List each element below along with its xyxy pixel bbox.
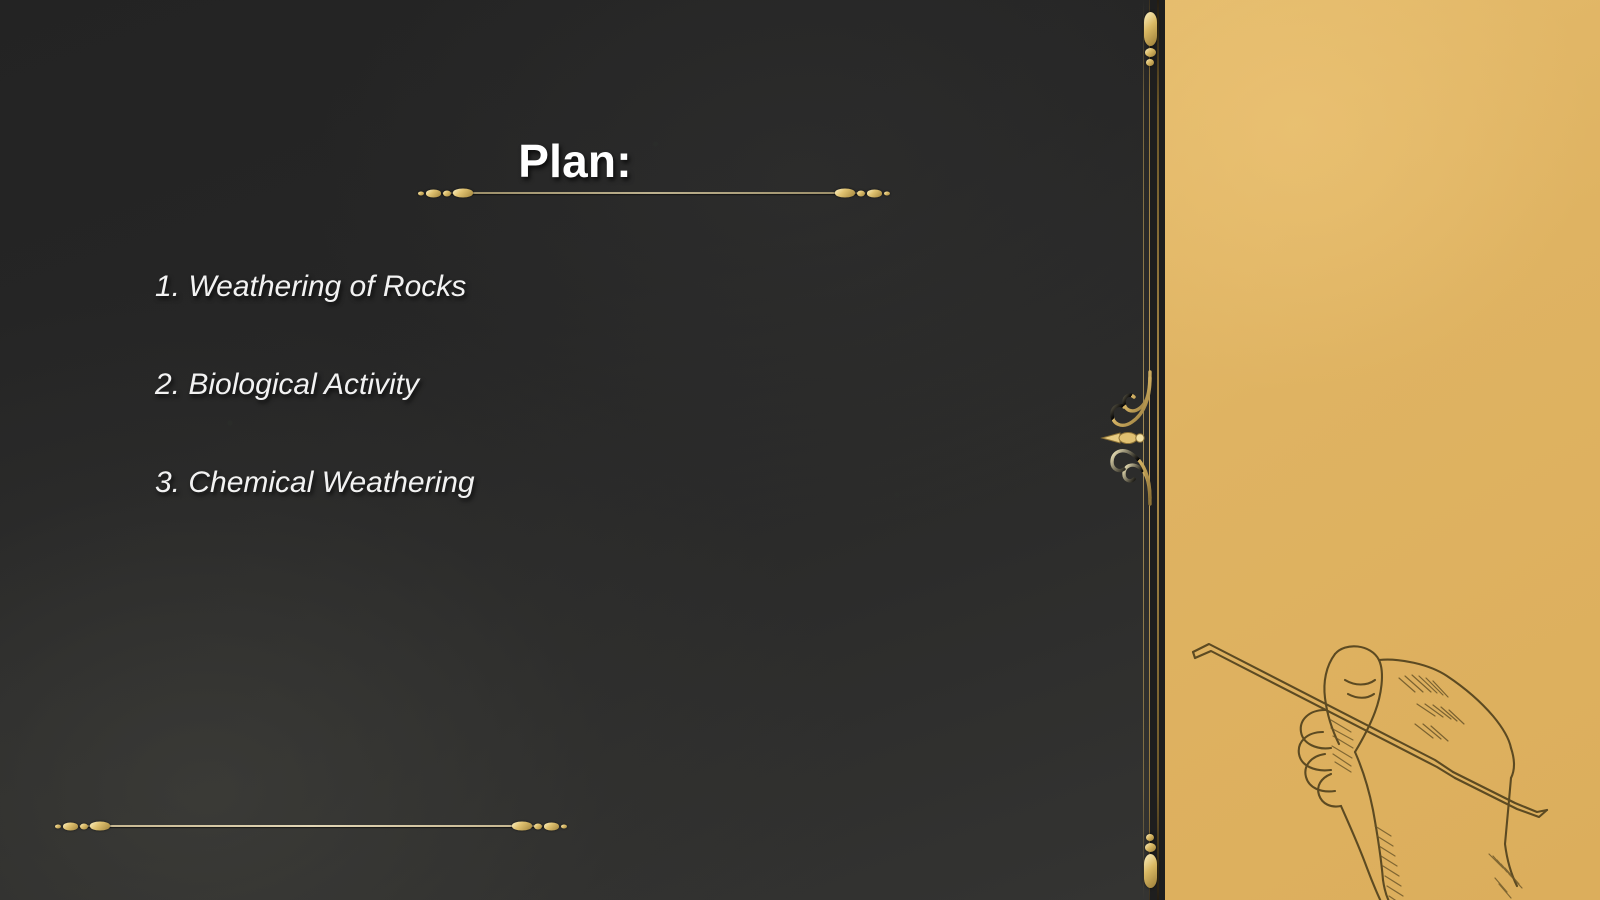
divider-ornament-right bbox=[835, 189, 890, 198]
seam-rule-inner bbox=[1157, 0, 1159, 900]
seam-bead-bottom bbox=[1142, 832, 1158, 890]
divider-bar bbox=[79, 825, 543, 827]
plan-list: 1. Weathering of Rocks 2. Biological Act… bbox=[155, 272, 975, 498]
divider-ornament-right bbox=[512, 822, 567, 831]
list-item: 1. Weathering of Rocks bbox=[155, 272, 975, 302]
divider-bar bbox=[442, 192, 866, 194]
page-title: Plan: bbox=[0, 134, 1150, 188]
seam-bead-top bbox=[1142, 10, 1158, 68]
list-item: 3. Chemical Weathering bbox=[155, 468, 975, 498]
hand-holding-pen-sketch bbox=[1185, 620, 1585, 900]
presentation-slide: Plan: 1. Weathering of Rocks 2. Biologic… bbox=[0, 0, 1600, 900]
footer-divider bbox=[55, 817, 567, 835]
divider-ornament-left bbox=[418, 189, 473, 198]
slide-gold-panel bbox=[1165, 0, 1600, 900]
list-item: 2. Biological Activity bbox=[155, 370, 975, 400]
divider-ornament-left bbox=[55, 822, 110, 831]
title-divider bbox=[418, 184, 890, 202]
